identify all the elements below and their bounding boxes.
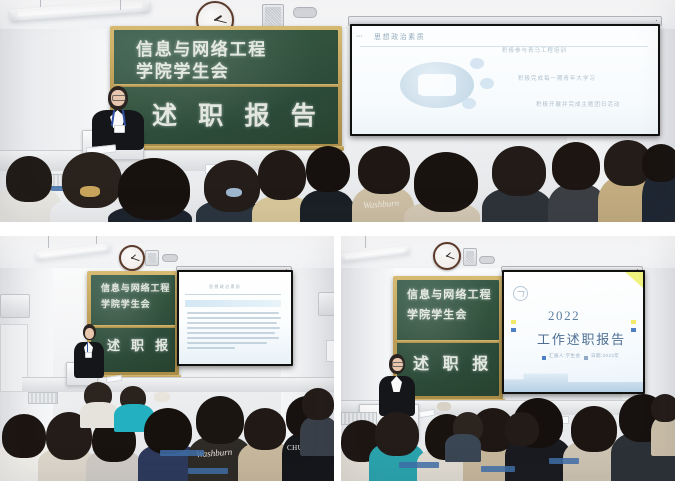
ceiling-camera	[479, 256, 495, 264]
panel-bottom-right-classroom: 信息与网络工程 学院学生会 述 职 报 告 ● 2022 工作述职报告	[341, 236, 675, 481]
audience-head	[505, 412, 539, 446]
slide-bubble	[470, 58, 484, 69]
audience-head	[244, 408, 286, 450]
classroom-scene-bl: 信息与网络工程 学院学生会 述 职 报 告 ● 思想政治素质	[0, 236, 334, 481]
audience-body	[445, 434, 481, 462]
radiator	[28, 392, 58, 404]
audience-head	[196, 396, 244, 444]
ceiling-camera	[162, 254, 178, 262]
slide-tag: ●●●	[356, 34, 362, 38]
blackboard-line-3: 述 职 报 告	[152, 96, 323, 132]
audience-head	[302, 388, 334, 420]
photo-collage: 信息与网络工程 学院学生会 述 职 报 告 ● ●●● 思想政治素质	[0, 0, 675, 481]
audience-head	[62, 152, 122, 208]
blackboard-line-2: 学院学生会	[407, 306, 468, 322]
slide-bullet-2: 积极完成每一期青年大学习	[518, 74, 596, 82]
slide-rule	[185, 294, 281, 295]
wall-speaker	[145, 250, 159, 266]
slide-subtitle-left: 汇报人:学生会	[549, 353, 580, 359]
slide-text-line	[187, 332, 275, 334]
wall-speaker	[463, 248, 477, 266]
slide-text-line	[187, 342, 267, 344]
wall-clock	[433, 242, 461, 270]
speaker-glasses	[112, 95, 126, 101]
slide-accent-yellow	[625, 272, 643, 288]
lamp-rod	[96, 236, 97, 244]
audience-head	[2, 414, 46, 458]
projector-screen-br: 2022 工作述职报告 汇报人:学生会 日期:2022年	[502, 270, 645, 394]
audience-head	[492, 146, 546, 196]
slide-bullet-marker	[542, 356, 546, 360]
lamp-rod	[40, 0, 41, 7]
audience-head	[414, 152, 478, 212]
audience-head	[358, 146, 410, 194]
clock-center-pin	[131, 257, 133, 259]
blackboard-top: 信息与网络工程 学院学生会 述 职 报 告	[114, 30, 338, 144]
clock-center-pin	[214, 19, 216, 21]
slide-square-accent	[631, 328, 636, 332]
blackboard-line-1: 信息与网络工程	[407, 286, 492, 302]
slide-bullet-3: 积极开展并完成主题团日活动	[536, 100, 620, 108]
blackboard-divider	[114, 84, 338, 87]
blackboard-divider	[397, 340, 499, 343]
slide-bullet-1: 积极参与青马工程培训	[502, 46, 567, 54]
slide-text-line	[187, 322, 277, 324]
blackboard-line-3: 述 职 报 告	[107, 335, 175, 354]
clock-minute-hand	[132, 258, 140, 262]
lamp-rod	[48, 236, 49, 248]
audience-hair-tie	[226, 188, 242, 197]
audience-body	[80, 402, 118, 428]
projector-screen-top: ●●● 思想政治素质 积极参与青马工程培训 积极完成每一期青年大学习 积极开展并…	[350, 24, 660, 136]
slide-content: ●●● 思想政治素质 积极参与青马工程培训 积极完成每一期青年大学习 积极开展并…	[352, 26, 658, 134]
audience-head	[642, 144, 675, 182]
slide-text-line	[187, 347, 235, 349]
audience-head	[651, 394, 675, 422]
audience-head	[118, 158, 190, 220]
panel-bottom-left-classroom: 信息与网络工程 学院学生会 述 职 报 告 ● 思想政治素质	[0, 236, 334, 481]
slide-bubble	[480, 78, 494, 89]
blackboard-line-2: 学院学生会	[101, 297, 151, 310]
speaker-glasses	[392, 362, 404, 367]
blackboard-line-3: 述 职 报 告	[413, 350, 499, 374]
speaker-lanyard	[87, 342, 88, 352]
audience-head	[144, 408, 192, 454]
wall-clock	[119, 245, 145, 271]
speaker-br	[377, 354, 417, 414]
audience-head	[258, 150, 306, 200]
audience-body	[651, 416, 675, 456]
audience-head	[571, 406, 617, 452]
audience-hair-tie	[154, 392, 170, 402]
clock-center-pin	[446, 255, 448, 257]
desk-edge	[481, 466, 515, 472]
speaker-face	[85, 328, 94, 339]
desk-edge	[549, 458, 579, 464]
slide-title: 思想政治素质	[374, 32, 425, 42]
slide-square-accent	[511, 328, 516, 332]
ceiling-camera	[293, 7, 317, 18]
lamp-rod	[365, 236, 366, 248]
slide-ring-inner	[418, 74, 456, 96]
slide-cover: 2022 工作述职报告 汇报人:学生会 日期:2022年	[504, 272, 643, 392]
slide-square-accent	[511, 320, 516, 324]
blackboard-line-2: 学院学生会	[136, 57, 230, 82]
classroom-scene-top: 信息与网络工程 学院学生会 述 职 报 告 ● ●●● 思想政治素质	[0, 0, 675, 222]
desk-edge	[160, 450, 204, 456]
audience-head	[375, 412, 419, 456]
speaker-top	[90, 86, 146, 148]
slide-text-line	[187, 317, 281, 319]
projector-screen-bl: 思想政治素质	[177, 270, 293, 366]
wall-poster	[326, 340, 334, 362]
audience-head	[552, 142, 600, 190]
slide-title: 思想政治素质	[209, 284, 241, 290]
audience-head	[204, 160, 260, 212]
blackboard-line-1: 信息与网络工程	[101, 281, 170, 294]
speaker-id-badge	[85, 352, 92, 358]
speaker-id-badge	[114, 125, 125, 133]
desk-edge	[188, 468, 228, 474]
slide-square-accent	[631, 320, 636, 324]
audience-head	[306, 146, 350, 192]
speaker-bl	[72, 324, 106, 380]
slide-year: 2022	[548, 308, 580, 324]
slide-banner	[185, 300, 281, 307]
slide-text-line	[187, 312, 279, 314]
slide-text-line	[187, 327, 280, 329]
panel-top-classroom-wide: 信息与网络工程 学院学生会 述 职 报 告 ● ●●● 思想政治素质	[0, 0, 675, 222]
classroom-scene-br: 信息与网络工程 学院学生会 述 职 报 告 ● 2022 工作述职报告	[341, 236, 675, 481]
audience-body	[300, 190, 354, 222]
slide-text-line	[187, 337, 279, 339]
audience-hair-tie	[80, 186, 100, 197]
slide-subtitle-right: 日期:2022年	[591, 353, 619, 359]
clock-minute-hand	[215, 19, 227, 23]
lamp-rod	[120, 0, 121, 10]
audience-head	[6, 156, 52, 202]
desk-edge	[399, 462, 439, 468]
audience-body	[300, 416, 334, 456]
slide-title: 工作述职报告	[537, 329, 626, 348]
slide-wave-graphic	[504, 366, 643, 392]
slide-logo-icon	[513, 286, 528, 301]
slide-bubble	[462, 98, 476, 109]
air-conditioner	[318, 292, 334, 316]
screen-brand-label: ●	[656, 20, 657, 22]
air-conditioner	[0, 294, 30, 318]
slide-text: 思想政治素质	[179, 272, 291, 364]
audience-hair-tie	[437, 402, 451, 411]
slide-bullet-marker	[584, 356, 588, 360]
